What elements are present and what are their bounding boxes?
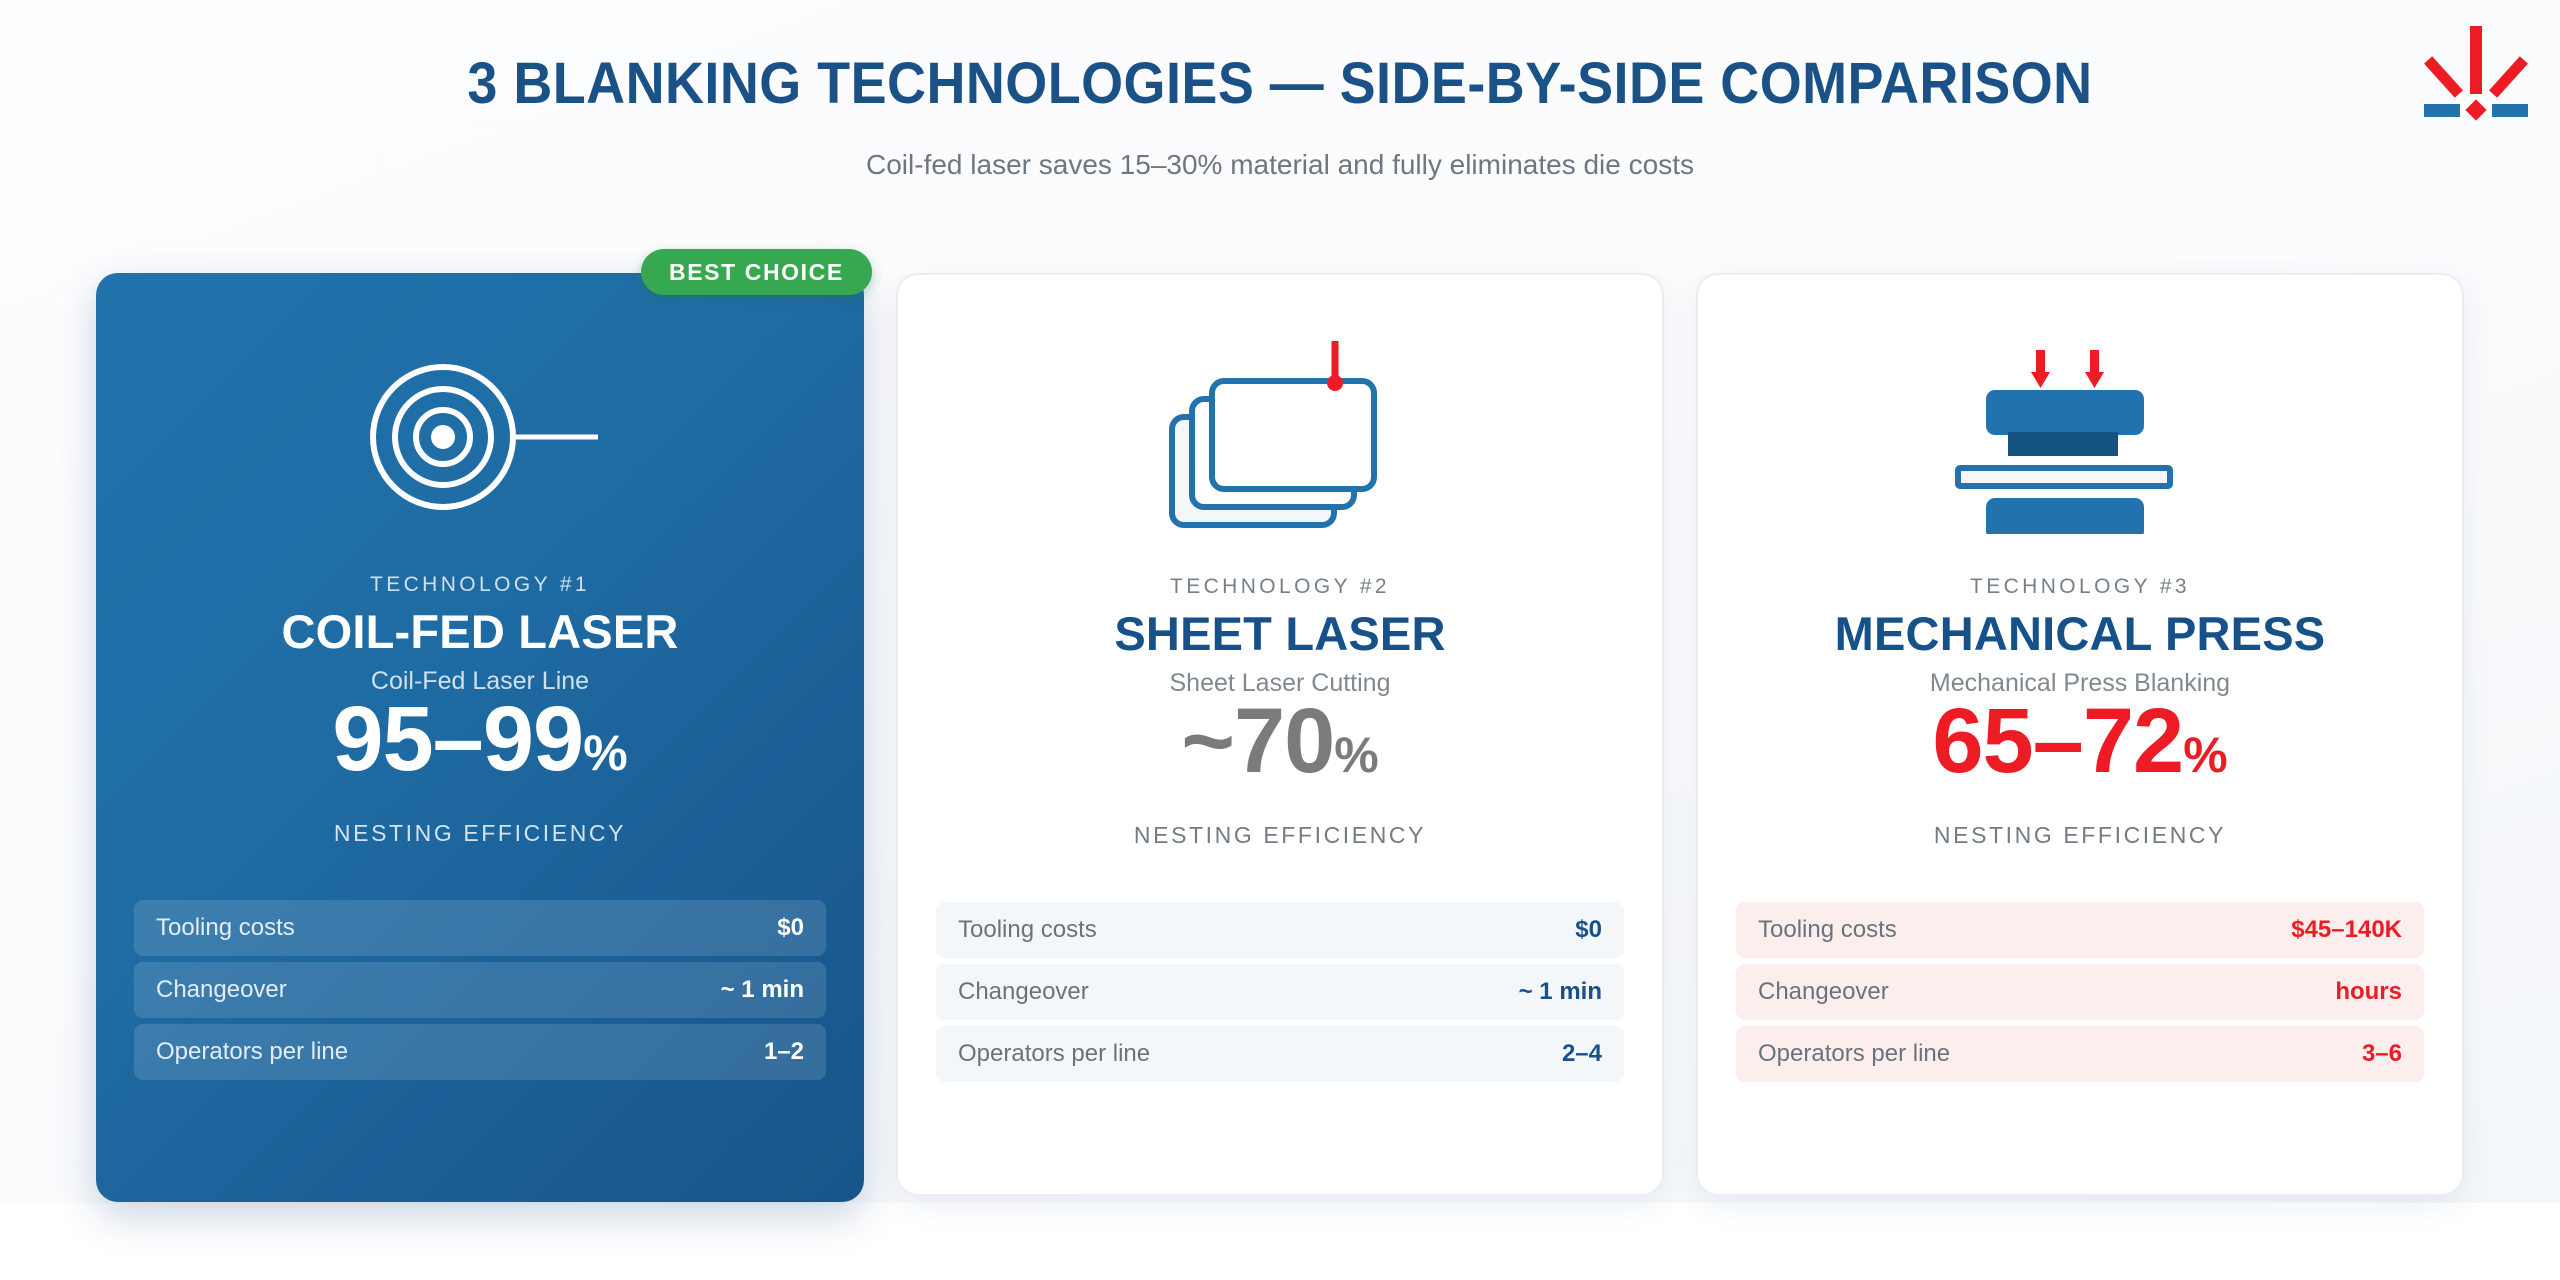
spec-label: Changeover <box>156 976 287 1004</box>
spec-row: Tooling costs $0 <box>936 902 1624 958</box>
card-tech-label: TECHNOLOGY #2 <box>898 575 1662 599</box>
spec-value: 2–4 <box>1562 1040 1602 1068</box>
spec-row: Tooling costs $0 <box>134 900 826 956</box>
spec-row: Changeover ~ 1 min <box>936 964 1624 1020</box>
card-stat-caption: NESTING EFFICIENCY <box>96 820 864 847</box>
card-title: MECHANICAL PRESS <box>1698 606 2462 662</box>
mechanical-press-icon-graphic <box>1950 344 2210 534</box>
spec-value: $45–140K <box>2291 916 2402 944</box>
technology-card-coil-fed-laser[interactable]: TECHNOLOGY #1 COIL-FED LASER Coil-Fed La… <box>96 273 864 1202</box>
spec-row: Changeover hours <box>1736 964 2424 1020</box>
spec-value: ~ 1 min <box>721 976 804 1004</box>
spec-value: hours <box>2335 978 2402 1006</box>
card-stat-number: 65–72 <box>1932 695 2183 787</box>
card-spec-list: Tooling costs $0 Changeover ~ 1 min Oper… <box>936 902 1624 1088</box>
card-title: SHEET LASER <box>898 606 1662 662</box>
spec-value: 1–2 <box>764 1038 804 1066</box>
spec-label: Operators per line <box>1758 1040 1950 1068</box>
spec-row: Tooling costs $45–140K <box>1736 902 2424 958</box>
card-spec-list: Tooling costs $0 Changeover ~ 1 min Oper… <box>134 900 826 1086</box>
card-primary-stat: ~70% <box>898 695 1662 787</box>
spec-value: $0 <box>1575 916 1602 944</box>
spec-row: Operators per line 1–2 <box>134 1024 826 1080</box>
card-primary-stat: 65–72% <box>1698 695 2462 787</box>
mechanical-press-icon <box>1698 319 2462 559</box>
card-stat-unit: % <box>583 728 627 778</box>
card-tech-label: TECHNOLOGY #3 <box>1698 575 2462 599</box>
spec-label: Operators per line <box>156 1038 348 1066</box>
slide-canvas: 3 BLANKING TECHNOLOGIES — SIDE-BY-SIDE C… <box>0 0 2560 1203</box>
spec-row: Operators per line 3–6 <box>1736 1026 2424 1082</box>
card-stat-caption: NESTING EFFICIENCY <box>898 822 1662 849</box>
card-spec-list: Tooling costs $45–140K Changeover hours … <box>1736 902 2424 1088</box>
card-stat-caption: NESTING EFFICIENCY <box>1698 822 2462 849</box>
spec-label: Tooling costs <box>1758 916 1897 944</box>
card-stat-number: 95–99 <box>332 693 583 785</box>
coil-reel-icon <box>96 317 864 557</box>
card-stat-unit: % <box>2183 730 2227 780</box>
spec-row: Changeover ~ 1 min <box>134 962 826 1018</box>
coil-reel-icon-graphic <box>350 347 610 527</box>
spec-label: Changeover <box>958 978 1089 1006</box>
spec-label: Changeover <box>1758 978 1889 1006</box>
page-subtitle: Coil-fed laser saves 15–30% material and… <box>0 148 2560 182</box>
spec-value: $0 <box>777 914 804 942</box>
converging-laser-beams-logo-icon <box>2416 18 2536 126</box>
comparison-slide: 3 BLANKING TECHNOLOGIES — SIDE-BY-SIDE C… <box>0 0 2560 1280</box>
spec-label: Operators per line <box>958 1040 1150 1068</box>
spec-value: ~ 1 min <box>1519 978 1602 1006</box>
stacked-sheets-laser-icon-graphic <box>1150 339 1410 539</box>
stacked-sheets-laser-icon <box>898 319 1662 559</box>
page-title: 3 BLANKING TECHNOLOGIES — SIDE-BY-SIDE C… <box>90 52 2471 116</box>
card-stat-number: ~70 <box>1181 695 1334 787</box>
card-tech-label: TECHNOLOGY #1 <box>96 573 864 597</box>
spec-label: Tooling costs <box>958 916 1097 944</box>
best-choice-badge: BEST CHOICE <box>641 249 872 295</box>
card-stat-unit: % <box>1334 730 1378 780</box>
card-title: COIL-FED LASER <box>96 604 864 660</box>
technology-card-mechanical-press[interactable]: TECHNOLOGY #3 MECHANICAL PRESS Mechanica… <box>1696 273 2464 1196</box>
card-primary-stat: 95–99% <box>96 693 864 785</box>
technology-card-sheet-laser[interactable]: TECHNOLOGY #2 SHEET LASER Sheet Laser Cu… <box>896 273 1664 1196</box>
brand-logo <box>2416 18 2536 126</box>
spec-row: Operators per line 2–4 <box>936 1026 1624 1082</box>
technology-cards: TECHNOLOGY #1 COIL-FED LASER Coil-Fed La… <box>96 273 2464 1203</box>
spec-value: 3–6 <box>2362 1040 2402 1068</box>
spec-label: Tooling costs <box>156 914 295 942</box>
